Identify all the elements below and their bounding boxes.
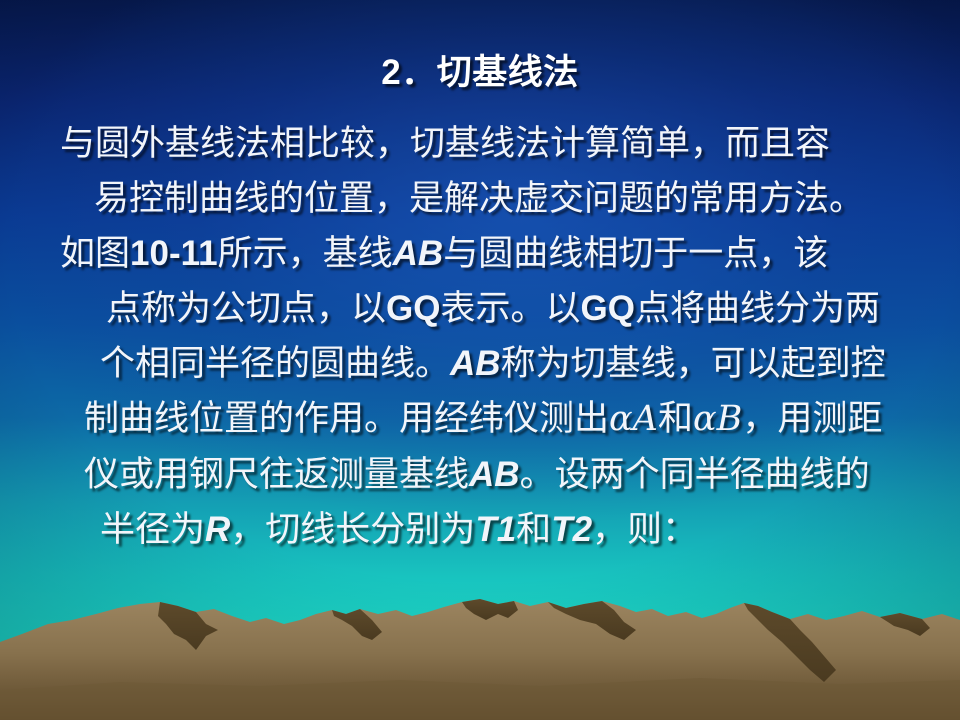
body-line-3: 如图10-11所示，基线AB与圆曲线相切于一点，该 xyxy=(60,226,910,281)
math-variable: AB xyxy=(393,234,444,273)
math-variable: AB xyxy=(450,344,501,383)
body-line-4: 点称为公切点，以GQ表示。以GQ点将曲线分为两 xyxy=(60,281,910,336)
body-line-6: 制曲线位置的作用。用经纬仪测出αA和αB，用测距 xyxy=(60,391,910,447)
body-line-5: 个相同半径的圆曲线。AB称为切基线，可以起到控 xyxy=(60,336,910,391)
slide-content: 2．切基线法 与圆外基线法相比较，切基线法计算简单，而且容 易控制曲线的位置，是… xyxy=(0,0,960,720)
figure-reference: 10-11 xyxy=(130,234,218,273)
angle-symbol: αA xyxy=(609,399,658,439)
point-label: GQ xyxy=(386,289,440,328)
body-line-2: 易控制曲线的位置，是解决虚交问题的常用方法。 xyxy=(60,171,910,226)
presentation-slide: 2．切基线法 与圆外基线法相比较，切基线法计算简单，而且容 易控制曲线的位置，是… xyxy=(0,0,960,720)
point-label: GQ xyxy=(580,289,634,328)
math-variable: T1 xyxy=(475,510,516,549)
math-variable: AB xyxy=(469,455,520,494)
body-line-1: 与圆外基线法相比较，切基线法计算简单，而且容 xyxy=(60,116,910,171)
body-line-8: 半径为R，切线长分别为T1和T2，则： xyxy=(60,502,910,557)
page-title: 2．切基线法 xyxy=(0,44,960,95)
body-text-block: 与圆外基线法相比较，切基线法计算简单，而且容 易控制曲线的位置，是解决虚交问题的… xyxy=(60,116,910,557)
math-variable: R xyxy=(205,510,230,549)
body-line-7: 仪或用钢尺往返测量基线AB。设两个同半径曲线的 xyxy=(60,447,910,502)
angle-symbol: αB xyxy=(693,399,742,439)
math-variable: T2 xyxy=(551,510,592,549)
